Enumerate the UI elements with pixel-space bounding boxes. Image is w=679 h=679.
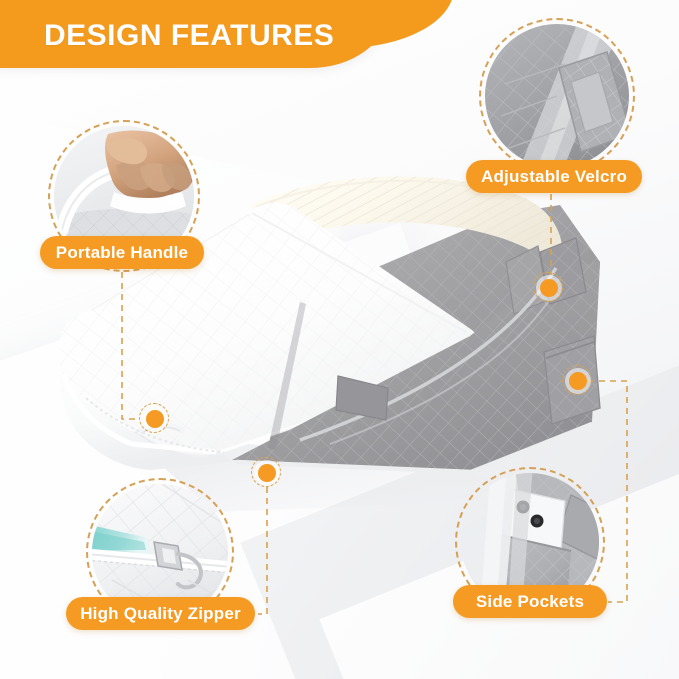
callout-label-text: Portable Handle bbox=[56, 243, 188, 263]
hotspot-dot-portable-handle[interactable] bbox=[146, 410, 164, 428]
hotspot-dot-side-pockets[interactable] bbox=[569, 372, 587, 390]
callout-label-high-quality-zipper[interactable]: High Quality Zipper bbox=[66, 597, 255, 630]
hotspot-dot-high-quality-zipper[interactable] bbox=[258, 464, 276, 482]
callout-label-adjustable-velcro[interactable]: Adjustable Velcro bbox=[466, 160, 642, 193]
callout-label-side-pockets[interactable]: Side Pockets bbox=[453, 585, 607, 618]
hotspot-dot-adjustable-velcro[interactable] bbox=[540, 279, 558, 297]
callout-label-text: Adjustable Velcro bbox=[481, 167, 627, 187]
callout-label-portable-handle[interactable]: Portable Handle bbox=[40, 236, 204, 269]
connector-high-quality-zipper bbox=[258, 487, 267, 614]
callout-label-text: High Quality Zipper bbox=[80, 604, 241, 624]
infographic-canvas: DESIGN FEATURES bbox=[0, 0, 679, 679]
callout-bubble-adjustable-velcro[interactable] bbox=[479, 18, 635, 174]
callout-label-text: Side Pockets bbox=[476, 592, 584, 612]
connector-portable-handle bbox=[122, 272, 140, 419]
page-title: DESIGN FEATURES bbox=[44, 19, 334, 53]
header-banner-curve bbox=[324, 0, 454, 48]
photo-adjustable-velcro bbox=[485, 24, 629, 168]
